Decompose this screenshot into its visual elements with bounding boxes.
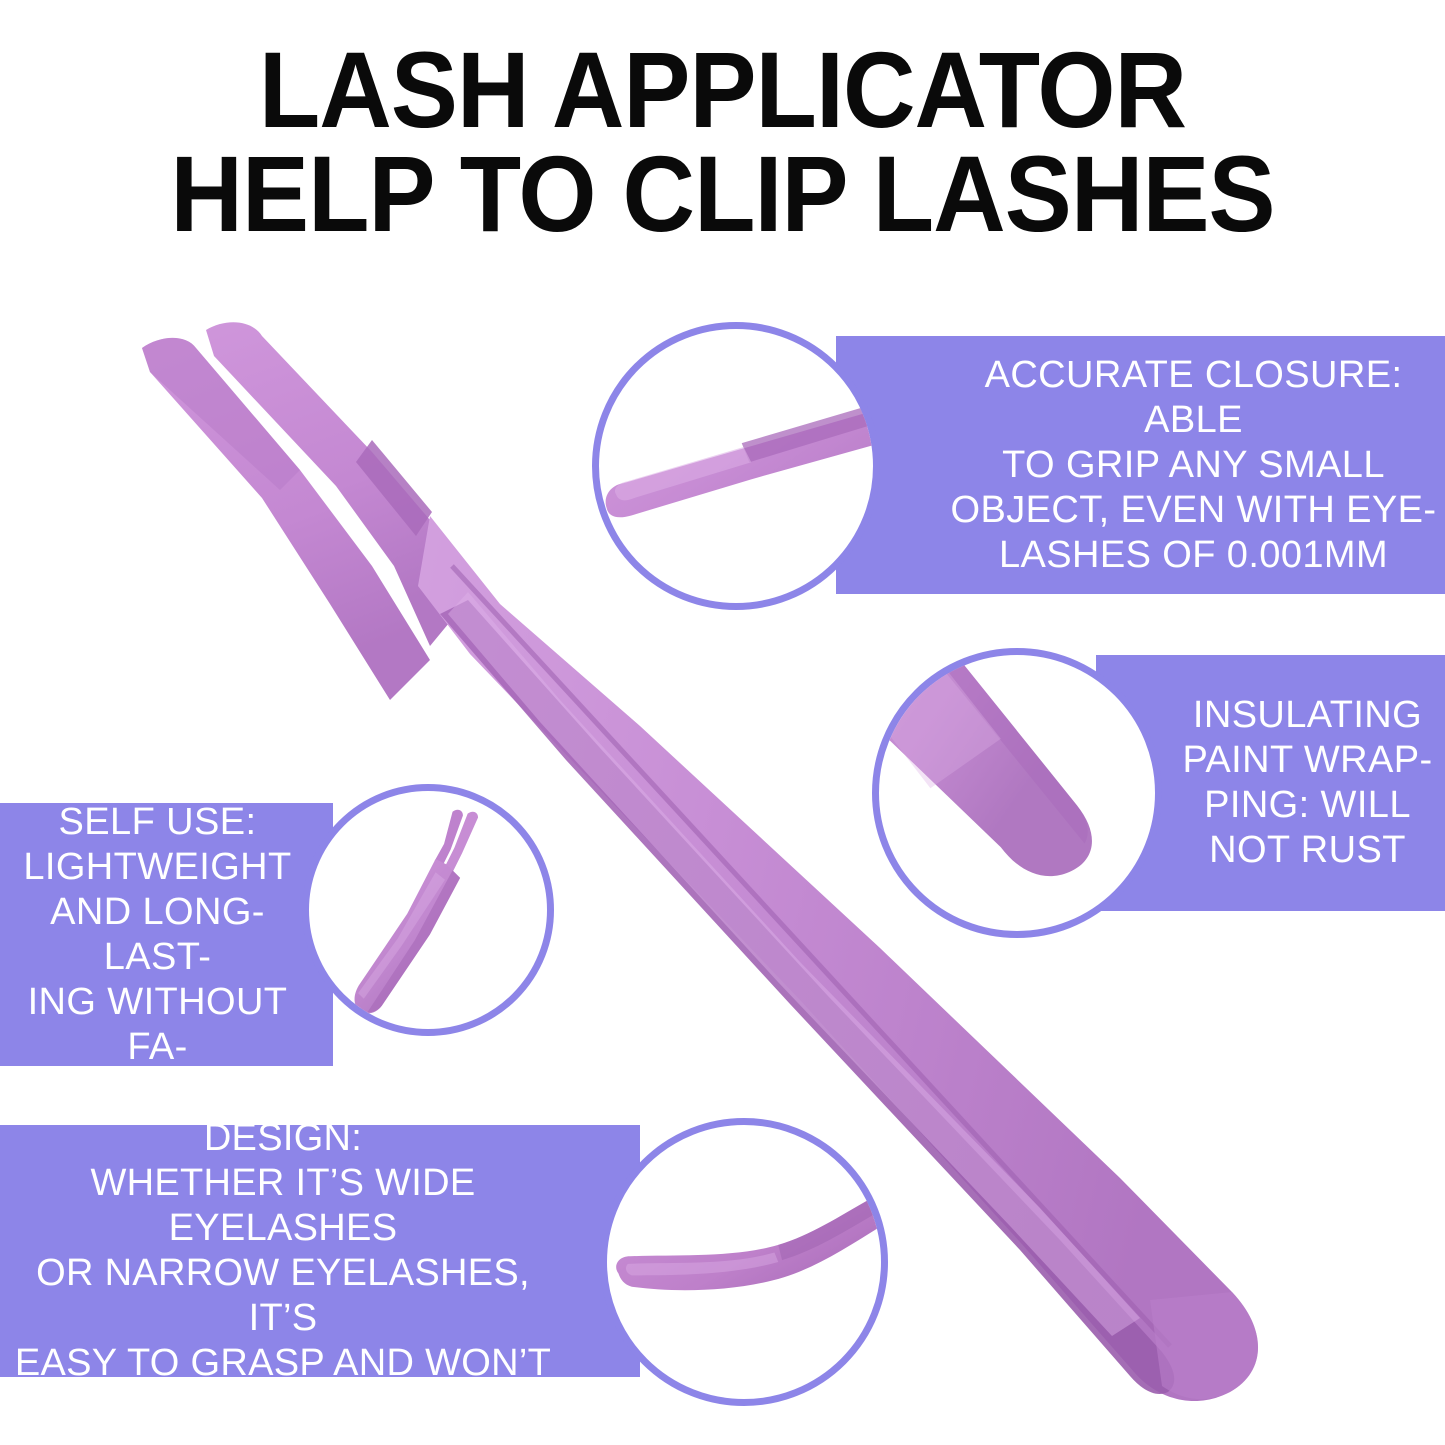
callout-banner-accurate-closure: ACCURATE CLOSURE: ABLE TO GRIP ANY SMALL… xyxy=(836,336,1445,594)
title-line-2: HELP TO CLIP LASHES xyxy=(51,142,1395,246)
detail-circle-arm-profile xyxy=(600,1118,888,1406)
callout-text-accurate-closure: ACCURATE CLOSURE: ABLE TO GRIP ANY SMALL… xyxy=(948,353,1439,578)
callout-banner-tweezer-top: SPECIAL TWEEZER TOP DESIGN: WHETHER IT’S… xyxy=(0,1125,640,1377)
handle-end-illustration xyxy=(879,655,1155,931)
arm-profile-illustration xyxy=(607,1125,881,1399)
mini-body-highlight xyxy=(358,872,445,999)
callout-banner-self-use: PERFECT FOR SELF USE: LIGHTWEIGHT AND LO… xyxy=(0,803,333,1066)
arm-body xyxy=(616,1199,881,1290)
tweezer-prong-back-edge xyxy=(142,338,300,490)
tweezer-handle-tip-shadow xyxy=(1150,1292,1258,1399)
callout-text-tweezer-top: SPECIAL TWEEZER TOP DESIGN: WHETHER IT’S… xyxy=(4,1071,562,1431)
callout-text-self-use: PERFECT FOR SELF USE: LIGHTWEIGHT AND LO… xyxy=(4,755,311,1115)
detail-circle-tip-closeup xyxy=(592,322,880,610)
full-tool-illustration xyxy=(309,791,547,1029)
detail-circle-full-tool xyxy=(302,784,554,1036)
tweezer-prong-front xyxy=(206,322,468,646)
detail-circle-handle-end xyxy=(872,648,1162,938)
tweezer-pivot-joint xyxy=(356,440,432,536)
title-line-1: LASH APPLICATOR xyxy=(51,38,1395,142)
callout-text-insulating-paint: INSULATING PAINT WRAP- PING: WILL NOT RU… xyxy=(1174,693,1441,873)
infographic-canvas: LASH APPLICATOR HELP TO CLIP LASHES xyxy=(0,0,1445,1445)
handle-second-arm xyxy=(879,874,913,931)
tip-closeup-illustration xyxy=(599,329,873,603)
page-title: LASH APPLICATOR HELP TO CLIP LASHES xyxy=(0,38,1445,246)
tweezer-prong-back xyxy=(142,338,430,700)
